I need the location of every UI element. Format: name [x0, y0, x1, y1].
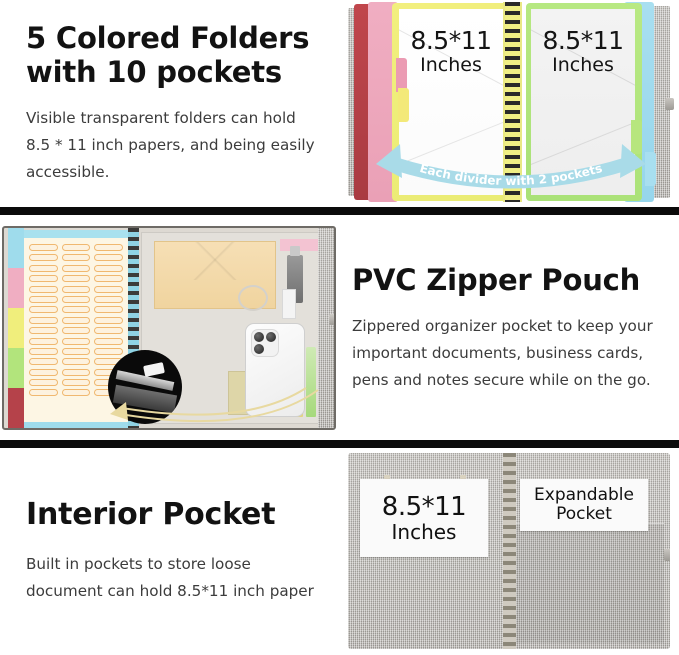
- double-arrow-icon: Each divider with 2 pockets: [366, 138, 656, 196]
- section-1-body: Visible transparent folders can hold 8.5…: [26, 105, 318, 186]
- label-pocket-line2: Pocket: [556, 505, 612, 524]
- section-1-headline: 5 Colored Folders with 10 pockets: [26, 21, 318, 89]
- divider-tab-strip: [8, 228, 24, 428]
- section-2-text-block: PVC Zipper Pouch Zippered organizer pock…: [340, 217, 679, 440]
- section-2-headline: PVC Zipper Pouch: [352, 263, 665, 297]
- divider-tab-yellow: [398, 88, 409, 122]
- spiral-binding: [503, 453, 516, 649]
- section-2-body: Zippered organizer pocket to keep your i…: [352, 313, 665, 394]
- callout-leader-lines: [104, 384, 324, 428]
- tab-cyan: [8, 228, 24, 268]
- label-card-expandable-pocket: Expandable Pocket: [520, 479, 648, 531]
- page-size-left-big: 8.5*11: [401, 28, 501, 55]
- label-pocket-line1: Expandable: [534, 486, 634, 505]
- tab-pink: [8, 268, 24, 308]
- section-3-image: 8.5*11 Inches Expandable Pocket: [340, 447, 679, 655]
- page-size-right-small: Inches: [533, 55, 633, 75]
- business-card: [282, 289, 296, 319]
- section-3-text-block: Interior Pocket Built in pockets to stor…: [0, 447, 340, 655]
- label-size-big: 8.5*11: [382, 493, 466, 522]
- tab-yellow: [8, 308, 24, 348]
- section-1-image: 8.5*11 Inches 8.5*11 Inches: [340, 0, 679, 207]
- flat-notebook-illustration: 8.5*11 Inches Expandable Pocket: [348, 453, 670, 649]
- section-2-image: [0, 217, 340, 440]
- notebook-pouch-illustration: [2, 226, 336, 430]
- elastic-strap-nub: [664, 549, 670, 561]
- page-size-label-right: 8.5*11 Inches: [533, 28, 633, 75]
- tape-roll: [238, 285, 268, 311]
- feature-section-interior-pocket: Interior Pocket Built in pockets to stor…: [0, 447, 679, 655]
- page-size-right-big: 8.5*11: [533, 28, 633, 55]
- section-divider-1: [0, 207, 679, 215]
- svg-text:Each divider with 2 pockets: Each divider with 2 pockets: [418, 161, 604, 188]
- infographic-sheet: 5 Colored Folders with 10 pockets Visibl…: [0, 0, 679, 655]
- elastic-strap-nub: [329, 314, 336, 325]
- section-3-body: Built in pockets to store loose document…: [26, 551, 318, 605]
- elastic-strap-nub: [665, 98, 674, 110]
- arrow-caption-text: Each divider with 2 pockets: [418, 161, 604, 188]
- page-size-label-left: 8.5*11 Inches: [401, 28, 501, 75]
- label-card-page-size: 8.5*11 Inches: [360, 479, 488, 557]
- tab-green: [8, 348, 24, 388]
- open-binder-illustration: 8.5*11 Inches 8.5*11 Inches: [348, 2, 670, 202]
- section-1-text-block: 5 Colored Folders with 10 pockets Visibl…: [0, 0, 340, 207]
- tab-red: [8, 388, 24, 428]
- zipper-pull-icon: [143, 362, 165, 377]
- section-3-headline: Interior Pocket: [26, 497, 318, 532]
- page-size-left-small: Inches: [401, 55, 501, 75]
- feature-section-colored-folders: 5 Colored Folders with 10 pockets Visibl…: [0, 0, 679, 207]
- label-size-small: Inches: [392, 521, 457, 543]
- feature-section-pvc-zipper-pouch: PVC Zipper Pouch Zippered organizer pock…: [0, 217, 679, 440]
- divider-pockets-callout: Each divider with 2 pockets: [366, 138, 656, 196]
- expandable-pocket: [516, 523, 664, 643]
- camera-module-icon: [251, 329, 279, 357]
